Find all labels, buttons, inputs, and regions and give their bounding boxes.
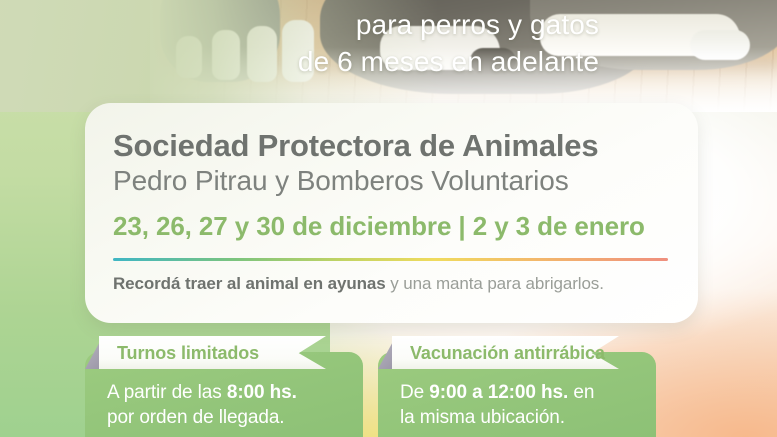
vacunacion-time: 9:00 a 12:00 hs. [429, 382, 568, 403]
vacunacion-pre: De [400, 382, 429, 403]
reminder-note-rest: y una manta para abrigarlos. [386, 274, 604, 293]
reminder-note-bold: Recordá traer al animal en ayunas [113, 274, 386, 293]
headline: para perros y gatos de 6 meses en adelan… [0, 0, 600, 80]
info-box-turnos-title: Turnos limitados [117, 340, 327, 366]
headline-line-1: para perros y gatos [0, 6, 600, 43]
info-box-vacunacion-line-2: la misma ubicación. [400, 405, 656, 430]
reminder-note: Recordá traer al animal en ayunas y una … [113, 274, 668, 294]
info-box-vacunacion: Vacunación antirrábica De 9:00 a 12:00 h… [378, 352, 656, 437]
info-box-turnos-line-1: A partir de las 8:00 hs. [107, 380, 363, 405]
vaccination-campaign-poster: para perros y gatos de 6 meses en adelan… [0, 0, 777, 437]
info-box-turnos-line-2: por orden de llegada. [107, 405, 363, 430]
turnos-pre: A partir de las [107, 382, 227, 403]
info-box-turnos: Turnos limitados A partir de las 8:00 hs… [85, 352, 363, 437]
turnos-time: 8:00 hs. [227, 382, 297, 403]
organization-subtitle: Pedro Pitrau y Bomberos Voluntarios [113, 165, 668, 197]
headline-line-2: de 6 meses en adelante [0, 43, 600, 80]
event-dates: 23, 26, 27 y 30 de diciembre | 2 y 3 de … [113, 211, 668, 242]
info-box-vacunacion-line-1: De 9:00 a 12:00 hs. en [400, 380, 656, 405]
main-info-card: Sociedad Protectora de Animales Pedro Pi… [85, 103, 698, 323]
rainbow-divider [113, 258, 668, 261]
vacunacion-post: en [568, 382, 594, 403]
info-box-vacunacion-title: Vacunación antirrábica [410, 340, 620, 366]
organization-title: Sociedad Protectora de Animales [113, 129, 668, 162]
